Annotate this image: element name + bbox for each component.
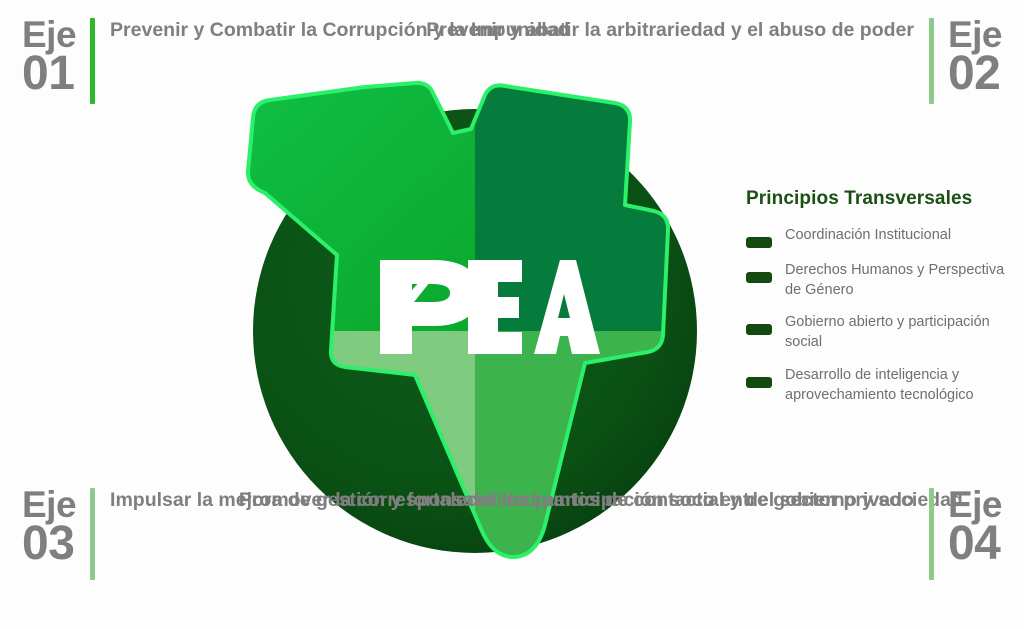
- eje-02-divider: [929, 18, 934, 104]
- eje-03-digits: 03: [22, 522, 76, 566]
- eje-02-number-group: Eje 02: [948, 18, 1002, 96]
- legend-swatch-icon: [746, 272, 772, 283]
- legend-item: Gobierno abierto y participación social: [746, 313, 1018, 352]
- legend-item-label: Gobierno abierto y participación social: [785, 313, 1018, 352]
- principios-transversales-legend: Principios Transversales Coordinación In…: [746, 188, 1018, 418]
- legend-swatch-icon: [746, 237, 772, 248]
- legend-item: Desarrollo de inteligencia y aprovechami…: [746, 366, 1018, 405]
- eje-01-number-group: Eje 01: [22, 18, 76, 96]
- legend-item-label: Derechos Humanos y Perspectiva de Género: [785, 261, 1018, 300]
- legend-item-label: Coordinación Institucional: [785, 226, 951, 246]
- eje-03-number-group: Eje 03: [22, 488, 76, 566]
- eje-03-divider: [90, 488, 95, 580]
- eje-01-divider: [90, 18, 95, 104]
- legend-swatch-icon: [746, 324, 772, 335]
- eje-04-description: Promover la corresponsabilidad participa…: [239, 488, 914, 513]
- letter-a: [534, 260, 600, 354]
- legend-title: Principios Transversales: [746, 188, 1018, 210]
- legend-item-label: Desarrollo de inteligencia y aprovechami…: [785, 366, 1018, 405]
- eje-04-block: Promover la corresponsabilidad participa…: [239, 488, 1002, 580]
- eje-01-digits: 01: [22, 52, 76, 96]
- eje-02-digits: 02: [948, 52, 1002, 96]
- eje-04-divider: [929, 488, 934, 580]
- legend-item: Coordinación Institucional: [746, 226, 1018, 248]
- eje-02-block: Prevenir y abatir la arbitrariedad y el …: [426, 18, 1002, 104]
- pea-wordmark: [372, 252, 602, 362]
- letter-e: [468, 260, 522, 354]
- eje-02-description: Prevenir y abatir la arbitrariedad y el …: [426, 18, 914, 43]
- eje-04-number-group: Eje 04: [948, 488, 1002, 566]
- legend-item: Derechos Humanos y Perspectiva de Género: [746, 261, 1018, 300]
- infographic-canvas: Eje 01 Prevenir y Combatir la Corrupción…: [0, 0, 1024, 629]
- eje-04-digits: 04: [948, 522, 1002, 566]
- legend-swatch-icon: [746, 377, 772, 388]
